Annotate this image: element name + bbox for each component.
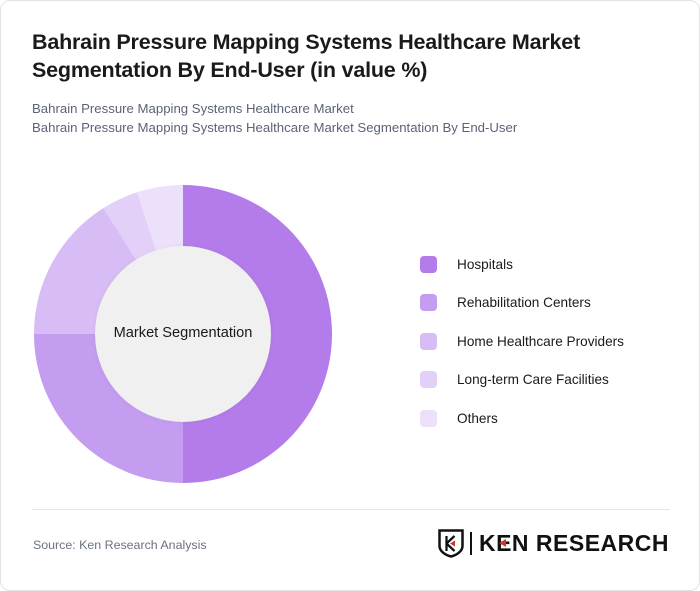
subtitle-segmentation: Bahrain Pressure Mapping Systems Healthc… bbox=[32, 118, 652, 138]
legend-item[interactable]: Long-term Care Facilities bbox=[420, 361, 624, 400]
legend-item[interactable]: Hospitals bbox=[420, 245, 624, 284]
footer-divider bbox=[32, 509, 670, 510]
legend-item-label: Long-term Care Facilities bbox=[457, 372, 609, 387]
legend-item-label: Rehabilitation Centers bbox=[457, 295, 591, 310]
ken-research-shield-logo bbox=[438, 529, 464, 558]
legend-swatch-icon bbox=[420, 256, 437, 273]
chart-header: Bahrain Pressure Mapping Systems Healthc… bbox=[32, 29, 652, 138]
ken-research-logo: K EN RESEARCH bbox=[438, 528, 669, 558]
chart-card: Bahrain Pressure Mapping Systems Healthc… bbox=[0, 0, 700, 591]
logo-wordmark-rest: EN RESEARCH bbox=[496, 532, 669, 555]
legend-item-label: Hospitals bbox=[457, 257, 513, 272]
chart-legend: HospitalsRehabilitation CentersHome Heal… bbox=[420, 245, 624, 438]
donut-center-label: Market Segmentation bbox=[106, 325, 261, 343]
legend-item-label: Home Healthcare Providers bbox=[457, 334, 624, 349]
logo-separator bbox=[470, 532, 472, 555]
legend-item[interactable]: Home Healthcare Providers bbox=[420, 322, 624, 361]
subtitle-market: Bahrain Pressure Mapping Systems Healthc… bbox=[32, 99, 652, 119]
legend-swatch-icon bbox=[420, 294, 437, 311]
logo-wordmark-k: K bbox=[479, 532, 496, 555]
donut-chart: Market Segmentation bbox=[34, 185, 332, 483]
legend-swatch-icon bbox=[420, 371, 437, 388]
donut-hole: Market Segmentation bbox=[95, 246, 271, 422]
legend-item-label: Others bbox=[457, 411, 498, 426]
chart-body: Market Segmentation HospitalsRehabilitat… bbox=[1, 171, 700, 501]
page-title: Bahrain Pressure Mapping Systems Healthc… bbox=[32, 29, 652, 85]
legend-swatch-icon bbox=[420, 410, 437, 427]
legend-item[interactable]: Others bbox=[420, 399, 624, 438]
subtitle-group: Bahrain Pressure Mapping Systems Healthc… bbox=[32, 99, 652, 138]
legend-swatch-icon bbox=[420, 333, 437, 350]
logo-wordmark: K EN RESEARCH bbox=[479, 532, 669, 555]
source-note: Source: Ken Research Analysis bbox=[33, 538, 207, 552]
legend-item[interactable]: Rehabilitation Centers bbox=[420, 284, 624, 323]
